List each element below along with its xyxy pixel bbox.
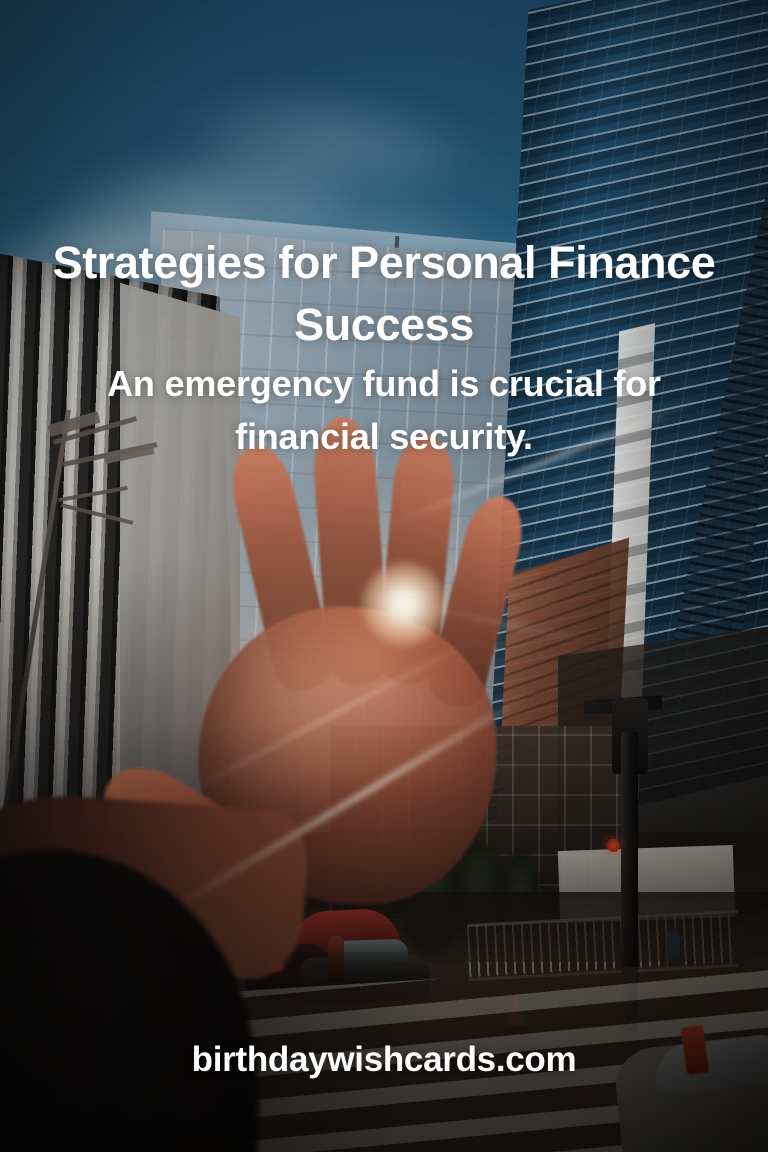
sun-flare-core [362,562,446,646]
greeting-card: Strategies for Personal Finance Success … [0,0,768,1152]
